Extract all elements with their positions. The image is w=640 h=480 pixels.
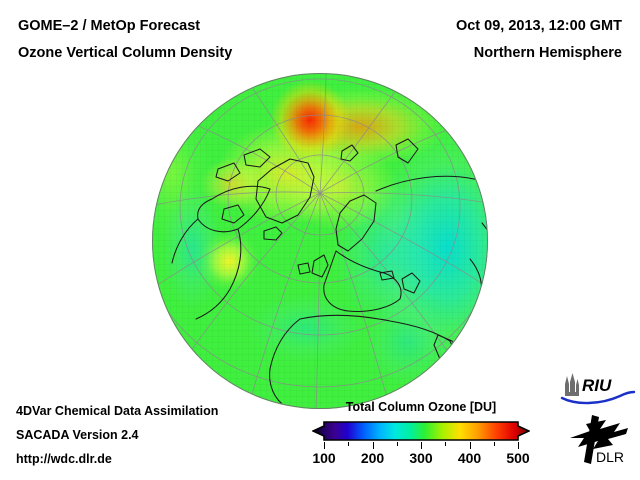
page-title-variable: Ozone Vertical Column Density: [18, 45, 232, 61]
colorbar-major-tick: [470, 442, 471, 449]
colorbar-minor-tick: [494, 442, 495, 446]
dlr-logo: DLR: [566, 414, 634, 471]
colorbar-tick-labels: 100200300400500: [312, 450, 530, 470]
colorbar-minor-tick: [445, 442, 446, 446]
region-label: Northern Hemisphere: [474, 45, 622, 61]
colorbar-tick-label: 100: [312, 450, 335, 466]
page-title-instrument: GOME–2 / MetOp Forecast: [18, 18, 200, 34]
colorbar-title: Total Column Ozone [DU]: [312, 400, 530, 414]
colorbar-major-tick: [324, 442, 325, 449]
riu-logo: RIU: [560, 372, 636, 411]
ozone-globe-map: [152, 73, 488, 409]
colorbar-major-tick: [373, 442, 374, 449]
colorbar: Total Column Ozone [DU]: [312, 400, 530, 470]
colorbar-tick-label: 200: [361, 450, 384, 466]
colorbar-tick-label: 500: [506, 450, 529, 466]
dlr-wordmark: DLR: [596, 449, 624, 465]
cathedral-spires-icon: [565, 373, 579, 396]
colorbar-minor-tick: [397, 442, 398, 446]
colorbar-minor-tick: [348, 442, 349, 446]
footer-url[interactable]: http://wdc.dlr.de: [16, 452, 112, 466]
colorbar-tick-label: 300: [409, 450, 432, 466]
colorbar-tick-label: 400: [458, 450, 481, 466]
footer-version: SACADA Version 2.4: [16, 428, 139, 442]
colorbar-major-tick: [518, 442, 519, 449]
footer-method: 4DVar Chemical Data Assimilation: [16, 404, 218, 418]
forecast-timestamp: Oct 09, 2013, 12:00 GMT: [456, 18, 622, 34]
colorbar-ticks: [312, 442, 530, 449]
colorbar-gradient: [312, 420, 530, 442]
colorbar-major-tick: [421, 442, 422, 449]
globe-limb-rim: [152, 73, 488, 409]
svg-text:RIU: RIU: [582, 376, 612, 395]
